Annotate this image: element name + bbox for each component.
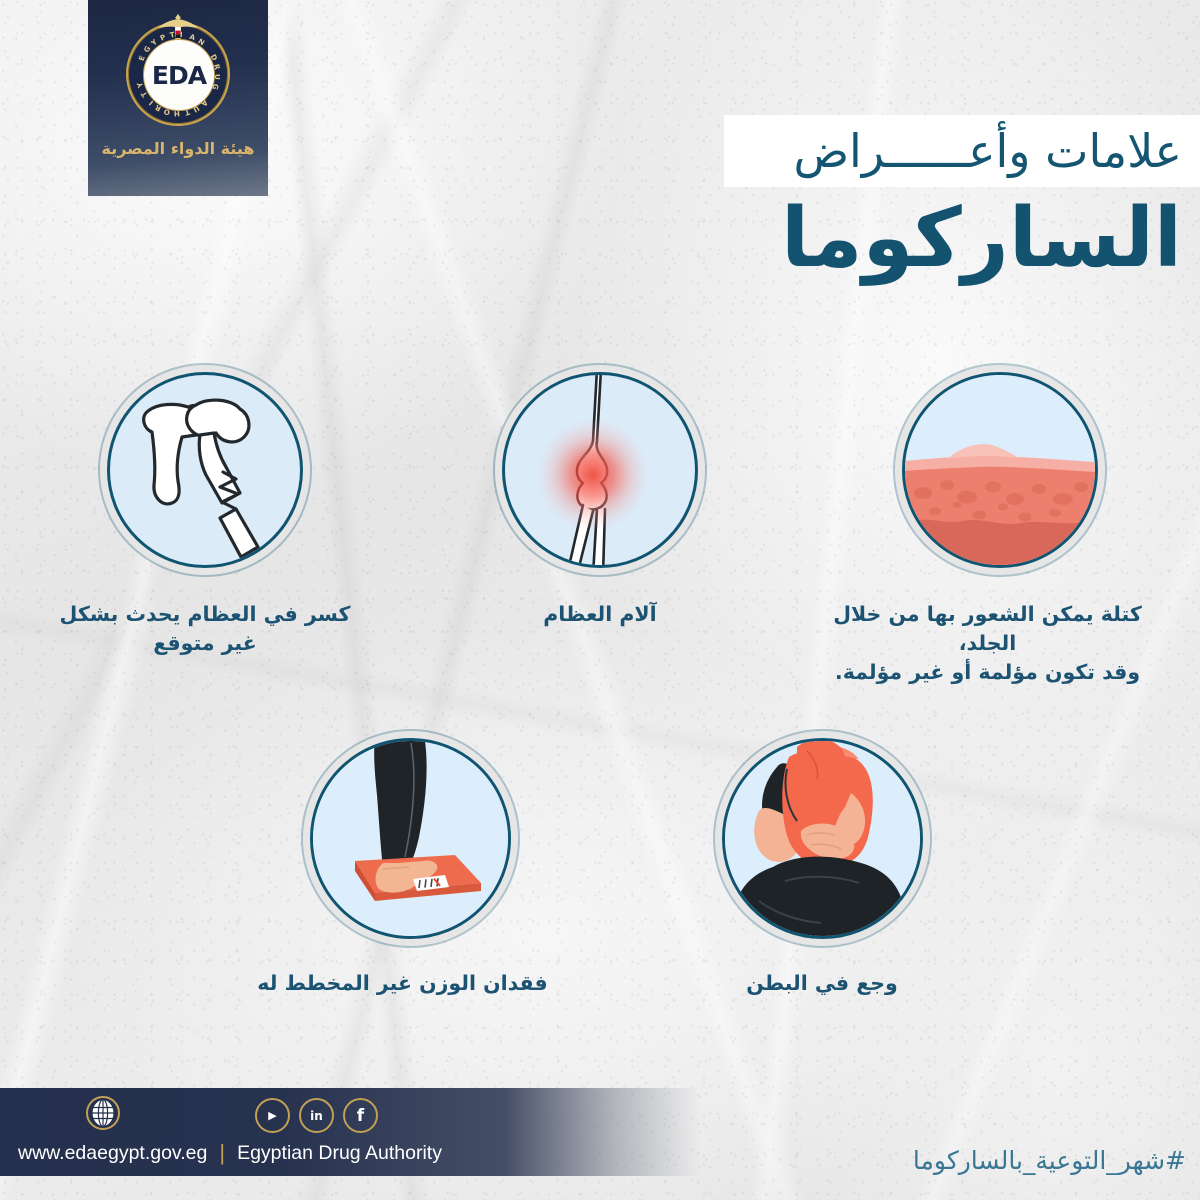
symptom-card-bone-fracture: كسر في العظام يحدث بشكلغير متوقع [55,372,355,658]
icon-circle-wrap [310,738,511,939]
icon-circle-wrap [722,738,923,939]
symptom-card-abdominal-pain: وجع في البطن [672,738,972,998]
linkedin-glyph: in [310,1109,323,1123]
icon-circle-wrap [107,372,303,568]
facebook-glyph: f [357,1106,364,1126]
symptom-caption: فقدان الوزن غير المخطط له [238,969,568,998]
icon-circle [722,738,923,939]
painful-joint-icon [505,375,695,565]
symptom-caption: آلام العظام [450,600,750,629]
linkedin-icon[interactable]: in [299,1098,334,1133]
seal-inner-disc: EDA [143,39,215,111]
seal-eda-text: EDA [152,61,206,90]
icon-circle-wrap [902,372,1098,568]
page-title-line1: علامات وأعــــــراض [793,128,1182,174]
icon-circle-wrap [502,372,698,568]
footer-organization: Egyptian Drug Authority [237,1142,442,1165]
facebook-icon[interactable]: f [343,1098,378,1133]
icon-circle [502,372,698,568]
symptom-card-bone-pain: آلام العظام [450,372,750,629]
skin-lump-icon [905,375,1095,565]
icon-circle [902,372,1098,568]
footer-text: www.edaegypt.gov.eg | Egyptian Drug Auth… [18,1140,578,1166]
page-title-line2: الساركوما [724,196,1200,282]
symptom-card-skin-lump: كتلة يمكن الشعور بها من خلال الجلد،وقد ت… [845,372,1155,687]
weighing-scale-icon [313,741,508,936]
symptom-caption: كتلة يمكن الشعور بها من خلال الجلد،وقد ت… [808,600,1168,687]
symptom-card-weight-loss: فقدان الوزن غير المخطط له [260,738,560,998]
footer-website[interactable]: www.edaegypt.gov.eg [18,1142,207,1165]
globe-icon[interactable] [86,1096,120,1130]
social-links: f in ▶ [255,1098,378,1133]
campaign-hashtag: #شهر_التوعية_بالساركوما [913,1146,1186,1175]
eda-seal-logo: EGYPTIAN DRUG AUTHORITY EDA [126,22,230,126]
symptom-caption: وجع في البطن [672,969,972,998]
symptom-caption: كسر في العظام يحدث بشكلغير متوقع [55,600,355,658]
icon-circle [310,738,511,939]
footer-separator: | [219,1140,225,1166]
icon-circle [107,372,303,568]
title-banner: علامات وأعــــــراض [724,115,1200,187]
eda-arabic-name: هيئة الدواء المصرية [102,139,255,158]
eda-logo-panel: EGYPTIAN DRUG AUTHORITY EDA هيئة الدواء … [88,0,268,196]
youtube-icon[interactable]: ▶ [255,1098,290,1133]
youtube-glyph: ▶ [268,1109,276,1122]
broken-bone-icon [110,375,300,565]
infographic-poster: EGYPTIAN DRUG AUTHORITY EDA هيئة الدواء … [0,0,1200,1200]
abdominal-pain-icon [725,741,920,936]
